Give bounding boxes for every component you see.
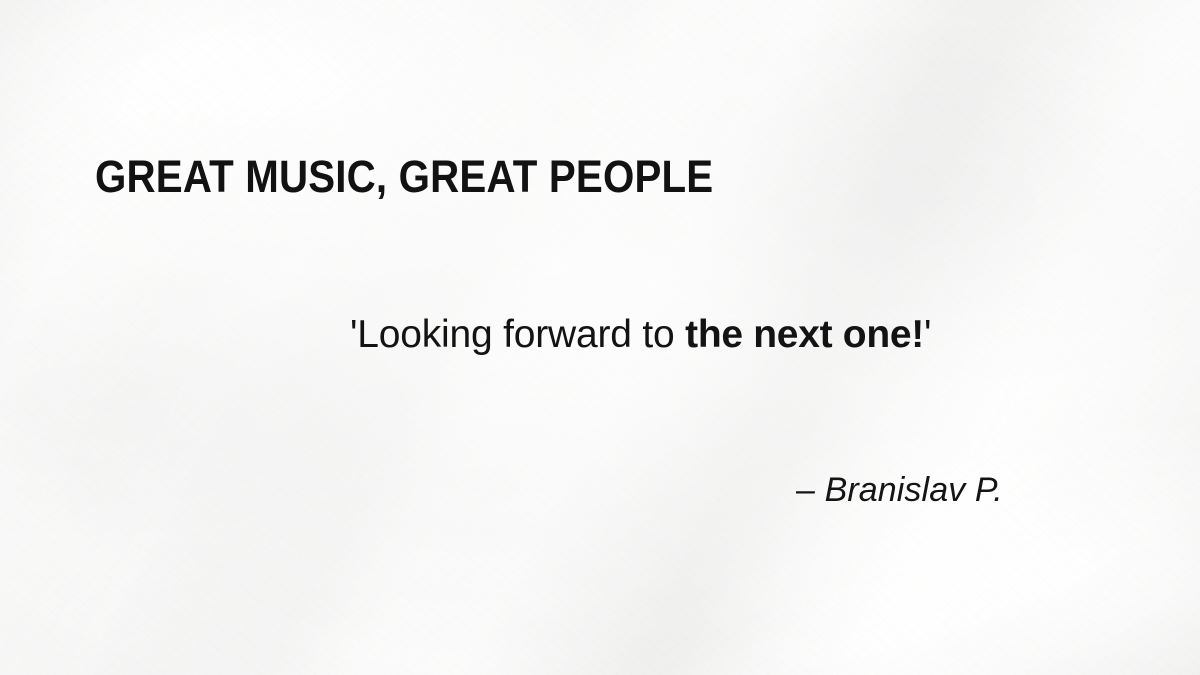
testimonial-quote: 'Looking forward to the next one!' — [350, 311, 931, 359]
quote-attribution: – Branislav P. — [796, 469, 1003, 511]
quote-emphasis-text: the next one! — [685, 313, 924, 356]
quote-lead-text: Looking forward to — [357, 313, 685, 356]
attribution-name: Branislav P. — [825, 471, 1003, 509]
slide-canvas: GREAT MUSIC, GREAT PEOPLE 'Looking forwa… — [0, 0, 1200, 675]
quote-close-mark: ' — [924, 313, 931, 356]
attribution-dash: – — [796, 471, 815, 509]
slide-content: GREAT MUSIC, GREAT PEOPLE 'Looking forwa… — [0, 0, 1200, 675]
page-title: GREAT MUSIC, GREAT PEOPLE — [95, 152, 713, 202]
